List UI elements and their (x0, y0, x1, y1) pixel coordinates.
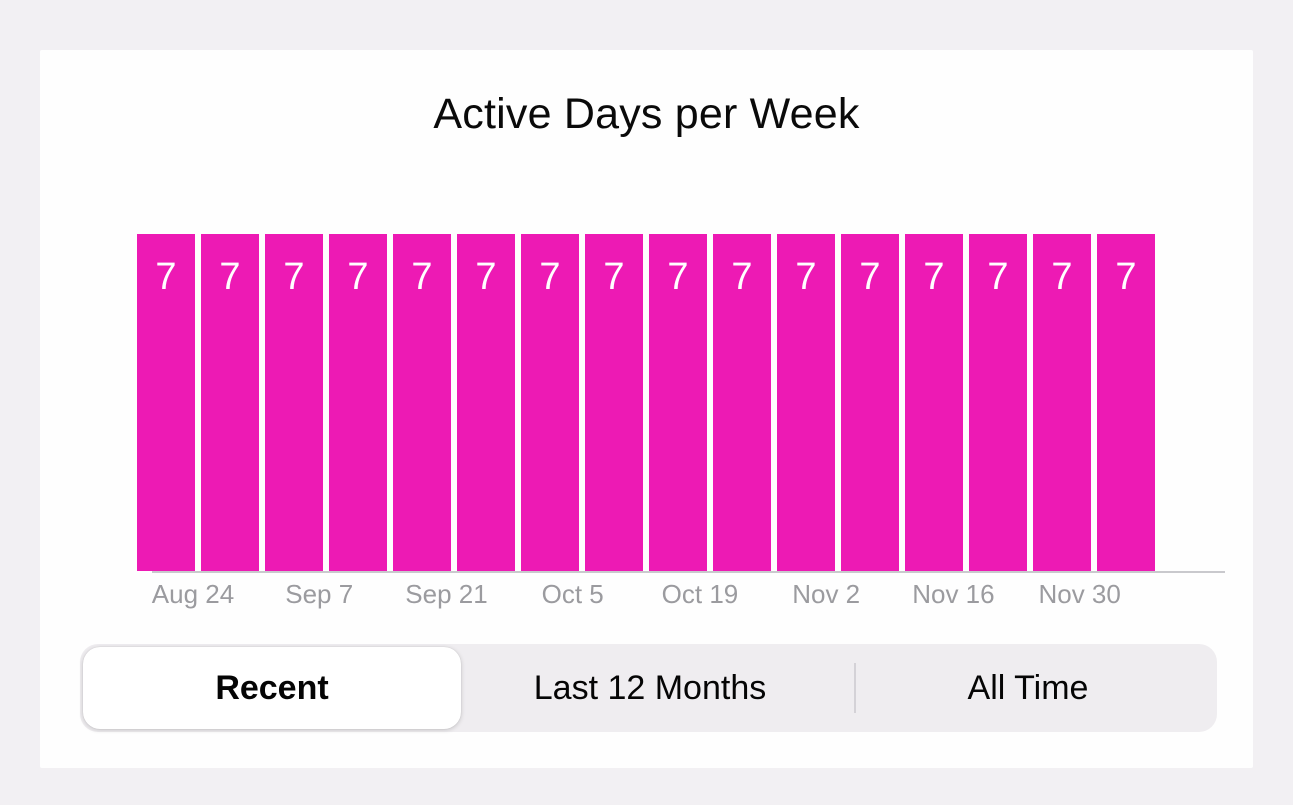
x-axis-tick-label: Sep 7 (285, 579, 353, 610)
bar: 7 (969, 234, 1027, 571)
bar-value-label: 7 (777, 258, 835, 296)
bar-value-label: 7 (1033, 258, 1091, 296)
x-axis-tick-label: Nov 16 (912, 579, 994, 610)
bar: 7 (457, 234, 515, 571)
bar: 7 (905, 234, 963, 571)
bar-value-label: 7 (1097, 258, 1155, 296)
x-axis-tick-label: Nov 2 (792, 579, 860, 610)
bar-chart-plot: 7777777777777777 Aug 24Sep 7Sep 21Oct 5O… (112, 234, 1185, 622)
bar: 7 (585, 234, 643, 571)
segment-option-last-12-months[interactable]: Last 12 Months (461, 644, 839, 732)
bar-value-label: 7 (969, 258, 1027, 296)
bar-value-label: 7 (585, 258, 643, 296)
bar-value-label: 7 (457, 258, 515, 296)
bar-value-label: 7 (521, 258, 579, 296)
x-axis-tick-labels: Aug 24Sep 7Sep 21Oct 5Oct 19Nov 2Nov 16N… (137, 579, 1155, 623)
x-axis-tick-label: Sep 21 (405, 579, 487, 610)
bar-value-label: 7 (201, 258, 259, 296)
segment-option-recent[interactable]: Recent (83, 647, 461, 729)
page-title: Active Days per Week (40, 90, 1253, 139)
bar: 7 (1097, 234, 1155, 571)
x-axis-tick-label: Oct 5 (542, 579, 604, 610)
x-axis-tick-label: Aug 24 (152, 579, 234, 610)
bar: 7 (713, 234, 771, 571)
bar-value-label: 7 (137, 258, 195, 296)
chart-card: Active Days per Week 7777777777777777 Au… (40, 50, 1253, 768)
x-axis-line (152, 571, 1225, 573)
bar: 7 (137, 234, 195, 571)
x-axis-tick-label: Nov 30 (1038, 579, 1120, 610)
bar: 7 (393, 234, 451, 571)
bar: 7 (1033, 234, 1091, 571)
time-range-segmented-control[interactable]: RecentLast 12 MonthsAll Time (80, 644, 1217, 732)
bar: 7 (201, 234, 259, 571)
bar-value-label: 7 (649, 258, 707, 296)
bar: 7 (329, 234, 387, 571)
bar-series: 7777777777777777 (137, 234, 1155, 571)
bar-value-label: 7 (841, 258, 899, 296)
segment-option-all-time[interactable]: All Time (839, 644, 1217, 732)
bar-value-label: 7 (905, 258, 963, 296)
bar-value-label: 7 (713, 258, 771, 296)
bar: 7 (777, 234, 835, 571)
x-axis-tick-label: Oct 19 (662, 579, 739, 610)
bar-value-label: 7 (329, 258, 387, 296)
bar: 7 (841, 234, 899, 571)
bar: 7 (649, 234, 707, 571)
bar-value-label: 7 (265, 258, 323, 296)
bar: 7 (521, 234, 579, 571)
bar-value-label: 7 (393, 258, 451, 296)
bar: 7 (265, 234, 323, 571)
